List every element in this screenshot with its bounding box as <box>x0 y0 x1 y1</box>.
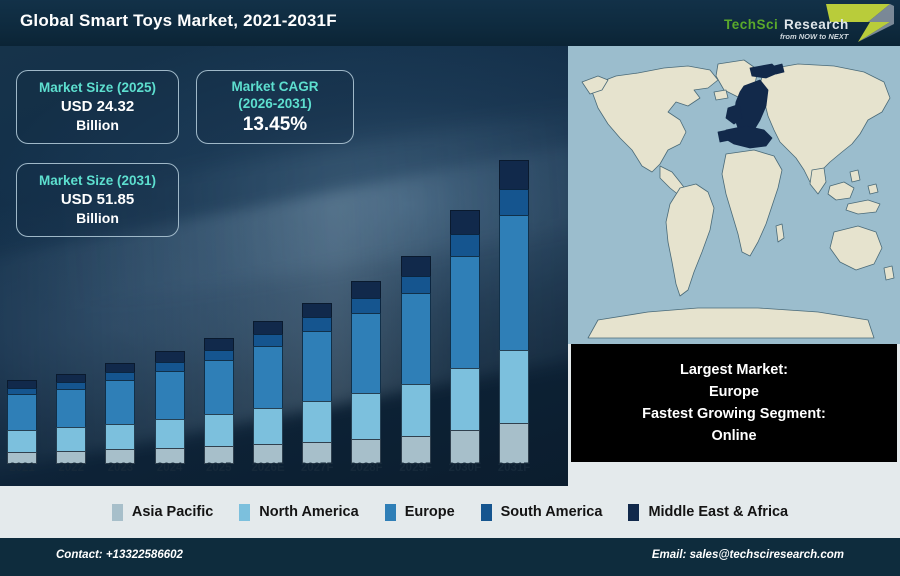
page-title: Global Smart Toys Market, 2021-2031F <box>20 11 337 31</box>
bar-segment-europe <box>499 215 529 349</box>
bar-segment-south-america <box>56 382 86 389</box>
bar-segment-south-america <box>499 189 529 215</box>
svg-text:TechSci: TechSci <box>724 17 778 32</box>
bar-segment-europe <box>7 394 37 430</box>
bar-2030F <box>450 210 480 464</box>
legend-swatch-europe <box>385 504 396 521</box>
bar-segment-middle-east-africa <box>253 321 283 334</box>
legend-swatch-south-america <box>481 504 492 521</box>
x-axis-label-2027F: 2027F <box>289 462 345 474</box>
largest-market-value: Europe <box>709 381 759 403</box>
stacked-bar-plot <box>0 46 568 486</box>
fastest-segment-label: Fastest Growing Segment: <box>642 403 826 425</box>
bar-segment-europe <box>450 256 480 368</box>
bar-segment-north-america <box>155 419 185 447</box>
bar-segment-middle-east-africa <box>302 303 332 318</box>
bar-2022 <box>56 374 86 464</box>
bar-segment-south-america <box>401 276 431 294</box>
chart-legend: Asia PacificNorth AmericaEuropeSouth Ame… <box>0 486 900 538</box>
bar-segment-middle-east-africa <box>204 338 234 350</box>
infographic-page: Global Smart Toys Market, 2021-2031F Tec… <box>0 0 900 576</box>
bar-segment-south-america <box>105 372 135 380</box>
legend-item-asia-pacific[interactable]: Asia Pacific <box>112 504 213 521</box>
techsci-research-logo: TechSci Research from NOW to NEXT <box>718 2 894 44</box>
bar-2029F <box>401 256 431 464</box>
bar-segment-middle-east-africa <box>155 351 185 361</box>
bar-segment-asia-pacific <box>450 430 480 464</box>
bar-segment-south-america <box>155 362 185 371</box>
bar-2025 <box>204 338 234 464</box>
legend-swatch-north-america <box>239 504 250 521</box>
bar-2027F <box>302 303 332 464</box>
bar-segment-asia-pacific <box>302 442 332 464</box>
x-axis-label-2030F: 2030F <box>437 462 493 474</box>
bar-segment-middle-east-africa <box>7 380 37 388</box>
legend-label-asia-pacific: Asia Pacific <box>132 504 213 520</box>
legend-swatch-asia-pacific <box>112 504 123 521</box>
footer-email: Email: sales@techsciresearch.com <box>652 549 844 561</box>
bar-segment-middle-east-africa <box>401 256 431 275</box>
bar-segment-europe <box>56 389 86 428</box>
bar-segment-europe <box>105 380 135 423</box>
bar-segment-europe <box>351 313 381 393</box>
bar-segment-middle-east-africa <box>450 210 480 234</box>
bar-2031F <box>499 160 529 464</box>
bar-2024 <box>155 351 185 464</box>
header-bar: Global Smart Toys Market, 2021-2031F Tec… <box>0 0 900 46</box>
bar-segment-north-america <box>253 408 283 444</box>
bar-2026E <box>253 321 283 464</box>
bar-2028F <box>351 281 381 464</box>
bar-2021 <box>7 380 37 464</box>
x-axis-label-2029F: 2029F <box>388 462 444 474</box>
x-axis-label-2031F: 2031F <box>486 462 542 474</box>
legend-label-south-america: South America <box>501 504 603 520</box>
largest-market-label: Largest Market: <box>680 359 788 381</box>
bar-segment-north-america <box>351 393 381 439</box>
legend-item-europe[interactable]: Europe <box>385 504 455 521</box>
bar-segment-south-america <box>302 317 332 331</box>
bar-segment-asia-pacific <box>499 423 529 464</box>
svg-text:Research: Research <box>784 17 849 32</box>
bar-segment-middle-east-africa <box>56 374 86 382</box>
x-axis-label-2023: 2023 <box>92 462 148 474</box>
x-axis-label-2024: 2024 <box>142 462 198 474</box>
bar-segment-south-america <box>204 350 234 360</box>
bar-segment-north-america <box>499 350 529 424</box>
bar-segment-north-america <box>7 430 37 452</box>
bar-segment-north-america <box>204 414 234 446</box>
bar-2023 <box>105 363 135 464</box>
bar-segment-north-america <box>401 384 431 436</box>
x-axis-label-2028F: 2028F <box>338 462 394 474</box>
svg-text:from NOW to NEXT: from NOW to NEXT <box>780 32 850 41</box>
legend-label-europe: Europe <box>405 504 455 520</box>
footer-contact: Contact: +13322586602 <box>56 549 183 561</box>
bar-segment-north-america <box>450 368 480 430</box>
x-axis-label-2025: 2025 <box>191 462 247 474</box>
bar-segment-europe <box>155 371 185 420</box>
bar-segment-europe <box>253 346 283 408</box>
legend-item-middle-east-africa[interactable]: Middle East & Africa <box>628 504 788 521</box>
footer-bar: Contact: +13322586602 Email: sales@techs… <box>0 538 900 576</box>
chart-panel: Market Size (2025) USD 24.32 Billion Mar… <box>0 46 568 486</box>
bar-segment-south-america <box>253 334 283 346</box>
bar-segment-south-america <box>351 298 381 313</box>
legend-label-middle-east-africa: Middle East & Africa <box>648 504 788 520</box>
bar-segment-middle-east-africa <box>351 281 381 298</box>
bar-segment-north-america <box>56 427 86 450</box>
bar-segment-europe <box>204 360 234 415</box>
legend-swatch-middle-east-africa <box>628 504 639 521</box>
bar-segment-europe <box>302 331 332 401</box>
bar-segment-north-america <box>302 401 332 442</box>
bar-segment-asia-pacific <box>401 436 431 464</box>
legend-item-north-america[interactable]: North America <box>239 504 358 521</box>
bar-segment-middle-east-africa <box>105 363 135 372</box>
bar-segment-north-america <box>105 424 135 450</box>
x-axis-label-2026E: 2026E <box>240 462 296 474</box>
fastest-segment-value: Online <box>711 425 756 447</box>
bar-segment-south-america <box>450 234 480 256</box>
bar-segment-asia-pacific <box>351 439 381 464</box>
world-map <box>568 46 900 344</box>
bar-segment-europe <box>401 293 431 384</box>
info-panel: Largest Market: Europe Fastest Growing S… <box>571 344 897 462</box>
legend-item-south-america[interactable]: South America <box>481 504 603 521</box>
x-axis-label-2022: 2022 <box>43 462 99 474</box>
legend-label-north-america: North America <box>259 504 358 520</box>
bar-segment-asia-pacific <box>253 444 283 464</box>
bar-segment-middle-east-africa <box>499 160 529 189</box>
